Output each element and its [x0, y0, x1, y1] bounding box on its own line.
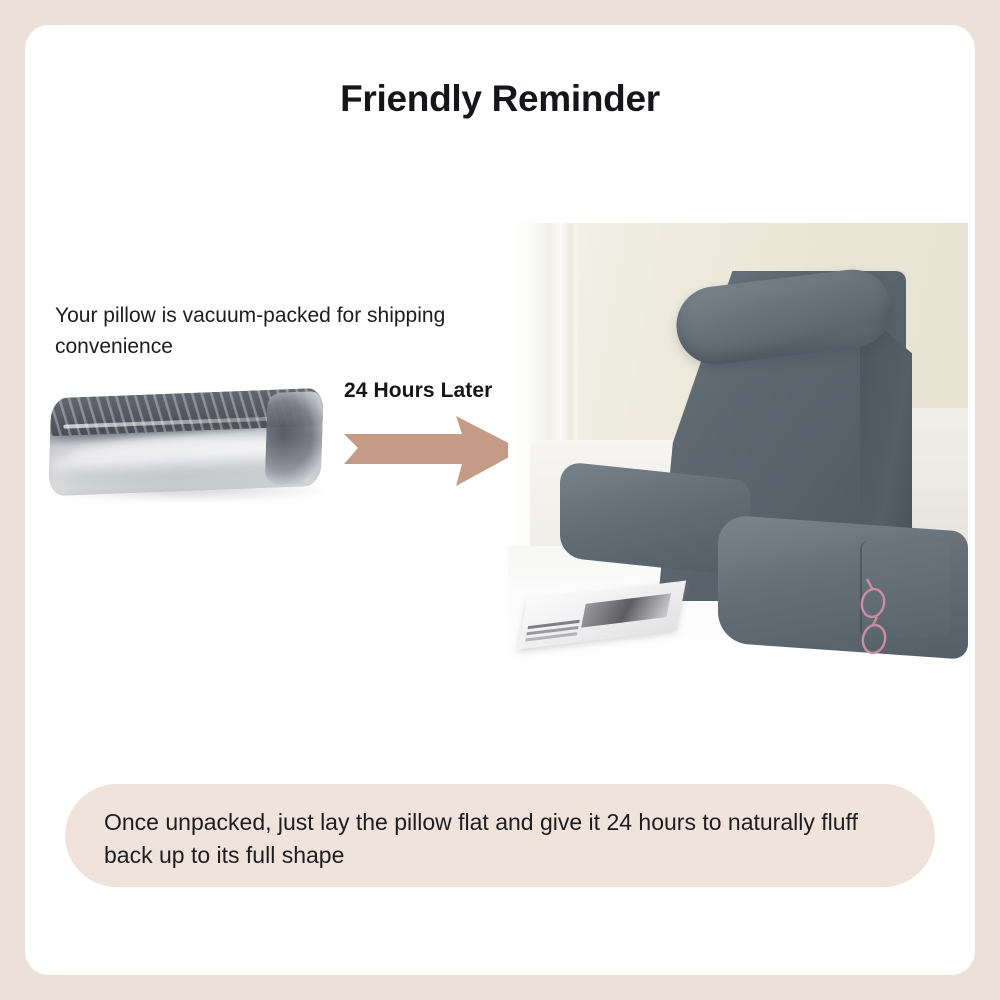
vacuum-pack-caption: Your pillow is vacuum-packed for shippin… [55, 300, 455, 362]
magazine-text-lines [528, 620, 579, 629]
vacuum-packed-pillow-image [38, 383, 338, 518]
pillow-pack-end-roll [265, 391, 324, 485]
right-arrow-icon [344, 412, 524, 494]
infographic-page: Friendly Reminder Your pillow is vacuum-… [0, 0, 1000, 1000]
magazine-photo [581, 593, 671, 627]
pillow-pack-body [48, 388, 324, 496]
eyeglasses-icon [853, 573, 889, 667]
product-photo [508, 223, 968, 685]
tip-banner-text: Once unpacked, just lay the pillow flat … [104, 806, 894, 872]
arrow-label: 24 Hours Later [344, 379, 492, 403]
page-title: Friendly Reminder [0, 78, 1000, 120]
